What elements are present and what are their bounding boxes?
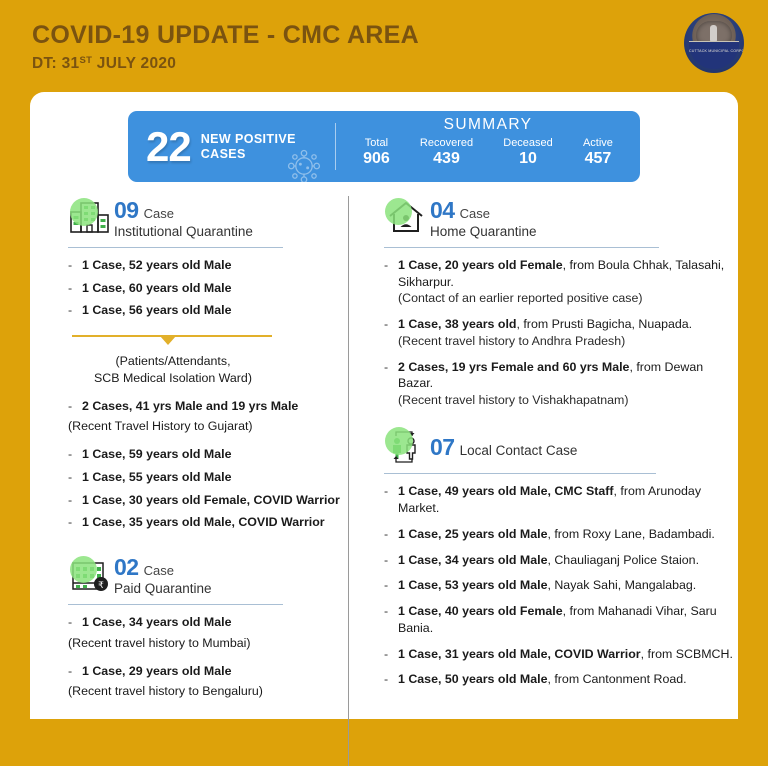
case-text: 1 Case, 40 years old Female, from Mahana… <box>398 603 738 636</box>
stat-value: 906 <box>363 150 390 169</box>
right-column: 04 Case Home Quarantine - 1 Case, 20 yea… <box>348 196 738 711</box>
case-text: 1 Case, 25 years old Male, from Roxy Lan… <box>398 526 738 543</box>
institutional-case-list-after: - 1 Case, 59 years old Male - 1 Case, 55… <box>68 446 348 531</box>
case-text: 1 Case, 52 years old Male <box>82 257 348 274</box>
house-person-icon <box>384 198 430 238</box>
list-item: - 1 Case, 40 years old Female, from Maha… <box>384 603 738 636</box>
list-item: - 1 Case, 50 years old Male, from Canton… <box>384 671 738 688</box>
case-text: 1 Case, 49 years old Male, CMC Staff, fr… <box>398 483 738 516</box>
yellow-arrow-divider <box>72 331 272 345</box>
bullet-dash: - <box>68 469 82 486</box>
summary-banner: 22 NEW POSITIVE CASES <box>128 111 640 182</box>
isolation-ward-note-line2: SCB Medical Isolation Ward) <box>68 370 278 387</box>
municipal-corporation-logo: CUTTACK MUNICIPAL CORPORATION <box>684 13 744 73</box>
paid-case-list: - 1 Case, 34 years old Male <box>68 614 348 631</box>
case-text: 1 Case, 60 years old Male <box>82 280 348 297</box>
list-item: - 1 Case, 29 years old Male <box>68 663 348 680</box>
stat-recovered: Recovered 439 <box>420 137 473 169</box>
page-header: COVID-19 UPDATE - CMC AREA DT: 31ST JULY… <box>0 0 768 92</box>
section-case-word: Case <box>144 563 174 579</box>
bullet-dash: - <box>68 446 82 463</box>
case-note: (Recent travel history to Vishakhapatnam… <box>398 392 738 409</box>
logo-band: CUTTACK MUNICIPAL CORPORATION <box>689 41 739 69</box>
list-item: - 1 Case, 20 years old Female, from Boul… <box>384 257 738 307</box>
date-prefix: DT: 31 <box>32 55 79 72</box>
institutional-gujarat-case: - 2 Cases, 41 yrs Male and 19 yrs Male <box>68 398 348 415</box>
section-rule <box>68 247 283 249</box>
case-note: (Contact of an earlier reported positive… <box>398 290 738 307</box>
case-text: 1 Case, 35 years old Male, COVID Warrior <box>82 514 348 531</box>
stat-label: Total <box>363 137 390 150</box>
section-title-paid: 02 Case Paid Quarantine <box>114 553 212 598</box>
section-name: Local Contact Case <box>460 443 578 459</box>
section-count: 07 <box>430 433 455 461</box>
section-name: Institutional Quarantine <box>114 224 253 240</box>
list-item: - 1 Case, 25 years old Male, from Roxy L… <box>384 526 738 543</box>
buildings-icon <box>68 198 114 238</box>
bullet-dash: - <box>68 257 82 274</box>
list-item: - 1 Case, 35 years old Male, COVID Warri… <box>68 514 348 531</box>
section-title-local: 07 Local Contact Case <box>430 433 577 461</box>
bullet-dash: - <box>384 257 398 307</box>
case-note: (Recent travel history to Andhra Pradesh… <box>398 333 738 350</box>
home-case-list: - 1 Case, 20 years old Female, from Boul… <box>384 257 738 409</box>
case-text: 1 Case, 34 years old Male, Chauliaganj P… <box>398 552 738 569</box>
section-title-home: 04 Case Home Quarantine <box>430 196 537 241</box>
bullet-dash: - <box>68 514 82 531</box>
paid-case-list-2: - 1 Case, 29 years old Male <box>68 663 348 680</box>
case-text: 1 Case, 53 years old Male, Nayak Sahi, M… <box>398 577 738 594</box>
building-rupee-icon: ₹ <box>68 555 114 595</box>
stat-label: Recovered <box>420 137 473 150</box>
stat-label: Deceased <box>503 137 553 150</box>
list-item: - 1 Case, 60 years old Male <box>68 280 348 297</box>
new-cases-block: 22 NEW POSITIVE CASES <box>128 111 335 182</box>
logo-band-label: CUTTACK MUNICIPAL CORPORATION <box>689 49 739 53</box>
report-date: DT: 31ST JULY 2020 <box>32 55 768 73</box>
stat-value: 10 <box>503 150 553 169</box>
new-cases-label-line1: NEW POSITIVE <box>201 132 296 147</box>
section-case-word: Case <box>144 206 174 222</box>
isolation-ward-note: (Patients/Attendants, SCB Medical Isolat… <box>68 353 278 386</box>
bullet-dash: - <box>68 492 82 509</box>
section-count: 09 <box>114 196 139 224</box>
stat-active: Active 457 <box>583 137 613 169</box>
list-item: - 1 Case, 56 years old Male <box>68 302 348 319</box>
bullet-dash: - <box>384 316 398 349</box>
case-text: 1 Case, 38 years old, from Prusti Bagich… <box>398 316 738 349</box>
list-item: - 2 Cases, 19 yrs Female and 60 yrs Male… <box>384 359 738 409</box>
section-header-institutional: 09 Case Institutional Quarantine <box>68 196 348 241</box>
list-item: - 1 Case, 59 years old Male <box>68 446 348 463</box>
list-item: - 1 Case, 31 years old Male, COVID Warri… <box>384 646 738 663</box>
svg-text:₹: ₹ <box>98 581 104 591</box>
stat-label: Active <box>583 137 613 150</box>
list-item: - 1 Case, 49 years old Male, CMC Staff, … <box>384 483 738 516</box>
section-title-institutional: 09 Case Institutional Quarantine <box>114 196 253 241</box>
section-count: 02 <box>114 553 139 581</box>
section-header-home: 04 Case Home Quarantine <box>384 196 738 241</box>
virus-icon <box>281 146 327 182</box>
list-item: - 1 Case, 38 years old, from Prusti Bagi… <box>384 316 738 349</box>
list-item: - 1 Case, 34 years old Male <box>68 614 348 631</box>
section-count: 04 <box>430 196 455 224</box>
case-text: 1 Case, 55 years old Male <box>82 469 348 486</box>
stat-value: 439 <box>420 150 473 169</box>
case-text: 2 Cases, 41 yrs Male and 19 yrs Male <box>82 398 348 415</box>
section-name: Paid Quarantine <box>114 581 212 597</box>
bullet-dash: - <box>384 671 398 688</box>
bullet-dash: - <box>68 302 82 319</box>
divider-arrow-triangle <box>160 336 176 345</box>
case-text: 1 Case, 34 years old Male <box>82 614 348 631</box>
gujarat-travel-note: (Recent Travel History to Gujarat) <box>68 418 348 435</box>
bullet-dash: - <box>68 398 82 415</box>
left-column: 09 Case Institutional Quarantine - 1 Cas… <box>30 196 348 711</box>
list-item: - 2 Cases, 41 yrs Male and 19 yrs Male <box>68 398 348 415</box>
case-text: 1 Case, 29 years old Male <box>82 663 348 680</box>
stat-deceased: Deceased 10 <box>503 137 553 169</box>
date-ordinal-suffix: ST <box>79 55 92 66</box>
case-text: 1 Case, 20 years old Female, from Boula … <box>398 257 738 307</box>
case-text: 2 Cases, 19 yrs Female and 60 yrs Male, … <box>398 359 738 409</box>
section-name: Home Quarantine <box>430 224 537 240</box>
bullet-dash: - <box>384 526 398 543</box>
columns-container: 09 Case Institutional Quarantine - 1 Cas… <box>30 196 738 711</box>
bullet-dash: - <box>68 280 82 297</box>
case-text: 1 Case, 59 years old Male <box>82 446 348 463</box>
section-header-local: 07 Local Contact Case <box>384 427 738 467</box>
list-item: - 1 Case, 52 years old Male <box>68 257 348 274</box>
bullet-dash: - <box>384 603 398 636</box>
case-text: 1 Case, 56 years old Male <box>82 302 348 319</box>
isolation-ward-note-line1: (Patients/Attendants, <box>68 353 278 370</box>
case-text: 1 Case, 31 years old Male, COVID Warrior… <box>398 646 738 663</box>
list-item: - 1 Case, 55 years old Male <box>68 469 348 486</box>
section-rule <box>384 247 659 249</box>
section-header-paid: ₹ 02 Case Paid Quarantine <box>68 553 348 598</box>
list-item: - 1 Case, 53 years old Male, Nayak Sahi,… <box>384 577 738 594</box>
stat-value: 457 <box>583 150 613 169</box>
paid-travel-note: (Recent travel history to Mumbai) <box>68 635 348 652</box>
summary-stats-row: Total 906 Recovered 439 Deceased 10 Acti… <box>348 137 628 169</box>
list-item: - 1 Case, 30 years old Female, COVID War… <box>68 492 348 509</box>
section-case-word: Case <box>460 206 490 222</box>
bullet-dash: - <box>384 359 398 409</box>
summary-title: SUMMARY <box>348 116 628 134</box>
section-rule <box>384 473 656 475</box>
contact-transmission-icon <box>384 427 430 467</box>
bullet-dash: - <box>384 483 398 516</box>
stat-total: Total 906 <box>363 137 390 169</box>
bullet-dash: - <box>68 614 82 631</box>
local-contact-case-list: - 1 Case, 49 years old Male, CMC Staff, … <box>384 483 738 688</box>
bullet-dash: - <box>384 552 398 569</box>
content-card: 22 NEW POSITIVE CASES <box>30 92 738 719</box>
bullet-dash: - <box>68 663 82 680</box>
case-text: 1 Case, 50 years old Male, from Cantonme… <box>398 671 738 688</box>
page-title: COVID-19 UPDATE - CMC AREA <box>32 22 768 48</box>
section-rule <box>68 604 283 606</box>
summary-stats-block: SUMMARY Total 906 Recovered 439 Deceased… <box>336 111 640 182</box>
paid-travel-note-2: (Recent travel history to Bengaluru) <box>68 683 348 700</box>
bullet-dash: - <box>384 577 398 594</box>
case-text: 1 Case, 30 years old Female, COVID Warri… <box>82 492 348 509</box>
institutional-case-list-before: - 1 Case, 52 years old Male - 1 Case, 60… <box>68 257 348 319</box>
date-suffix: JULY 2020 <box>92 55 176 72</box>
list-item: - 1 Case, 34 years old Male, Chauliaganj… <box>384 552 738 569</box>
new-cases-count: 22 <box>146 126 191 168</box>
bullet-dash: - <box>384 646 398 663</box>
